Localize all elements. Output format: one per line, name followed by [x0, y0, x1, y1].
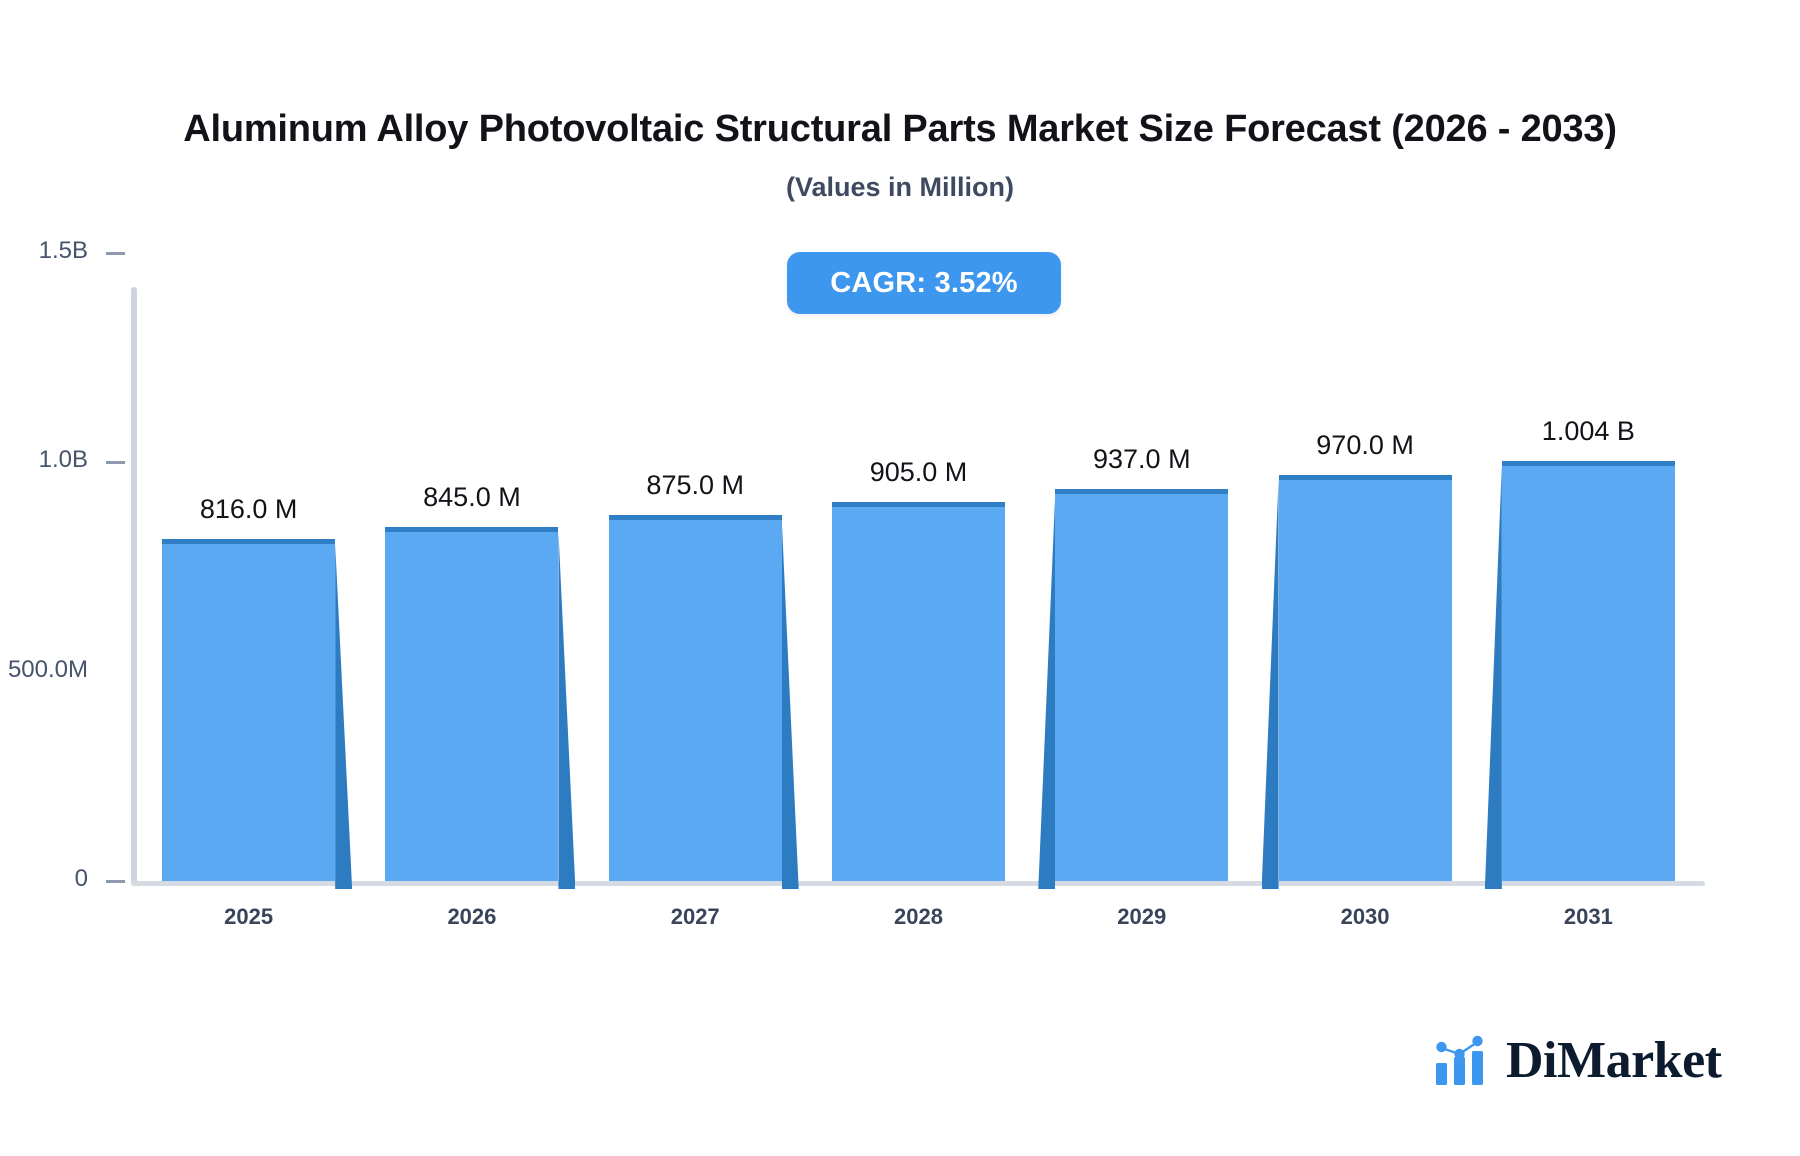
x-tick-label: 2029: [1042, 904, 1242, 930]
logo-wordmark: DiMarket: [1506, 1035, 1721, 1087]
bar-value-label: 1.004 B: [1448, 416, 1728, 447]
bar-2026[interactable]: [385, 527, 558, 881]
bar-2030[interactable]: [1279, 475, 1452, 881]
y-tick-label: 1.0B: [39, 446, 88, 474]
bar-2028[interactable]: [832, 502, 1005, 881]
plot-area: 0500.0M1.0B1.5B 816.0 M845.0 M875.0 M905…: [0, 0, 1800, 1156]
x-tick-label: 2031: [1488, 904, 1688, 930]
x-tick-label: 2030: [1265, 904, 1465, 930]
bar-side-2027: [782, 519, 799, 889]
x-tick-label: 2027: [595, 904, 795, 930]
bar-side-2025: [335, 543, 352, 889]
y-tick-label: 1.5B: [39, 237, 88, 265]
chart-canvas: Aluminum Alloy Photovoltaic Structural P…: [0, 0, 1800, 1156]
bar-side-2029: [1038, 493, 1055, 889]
bar-2025[interactable]: [162, 539, 335, 881]
bar-2027[interactable]: [609, 515, 782, 881]
bar-side-2026: [558, 531, 575, 889]
y-axis-line: [131, 287, 137, 885]
x-axis-line: [131, 881, 1705, 886]
bar-chart-icon: [1434, 1035, 1492, 1087]
x-tick-label: 2026: [372, 904, 572, 930]
y-tick-dash: [106, 252, 125, 255]
y-tick-dash: [106, 880, 125, 883]
bar-side-2031: [1485, 465, 1502, 889]
bar-2029[interactable]: [1055, 489, 1228, 881]
y-tick-label: 0: [75, 865, 88, 893]
bar-2031[interactable]: [1502, 461, 1675, 881]
bar-side-2030: [1262, 479, 1279, 889]
x-tick-label: 2025: [149, 904, 349, 930]
dimarket-logo: DiMarket: [1434, 1035, 1721, 1087]
y-tick-label: 500.0M: [8, 656, 88, 684]
x-tick-label: 2028: [819, 904, 1019, 930]
y-tick-dash: [106, 461, 125, 464]
